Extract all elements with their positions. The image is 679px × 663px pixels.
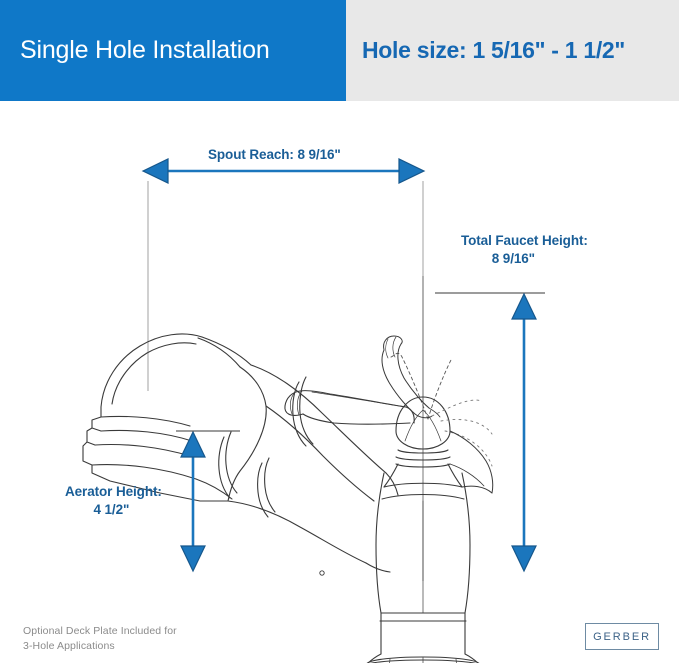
pull-out-hose-spout: [219, 365, 398, 575]
page-title: Single Hole Installation: [20, 37, 270, 65]
header-subtitle-panel: Hole size: 1 5/16" - 1 1/2": [346, 0, 679, 101]
label-total-faucet-height: Total Faucet Height: 8 9/16": [461, 232, 588, 268]
header-band: Single Hole Installation Hole size: 1 5/…: [0, 0, 679, 101]
aerator-spray-head: [83, 334, 266, 501]
faucet-diagram: [0, 101, 679, 663]
footer-note: Optional Deck Plate Included for 3-Hole …: [23, 624, 177, 654]
label-aerator-height-line2: 4 1/2": [65, 501, 162, 519]
body-ghost-right: [450, 431, 493, 493]
lever-handle: [285, 391, 414, 425]
brand-logo-text: GERBER: [593, 631, 651, 643]
deck-plate-base: [360, 654, 486, 663]
label-total-faucet-height-line1: Total Faucet Height:: [461, 233, 588, 248]
label-aerator-height-line1: Aerator Height:: [65, 484, 162, 499]
brand-logo: GERBER: [585, 623, 659, 650]
extension-lines: [148, 181, 423, 406]
dimension-arrow-total-height: [512, 294, 536, 571]
label-total-faucet-height-line2: 8 9/16": [461, 250, 588, 268]
footer-note-line2: 3-Hole Applications: [23, 639, 177, 654]
label-spout-reach: Spout Reach: 8 9/16": [208, 146, 341, 164]
footer-note-line1: Optional Deck Plate Included for: [23, 624, 177, 639]
label-aerator-height: Aerator Height: 4 1/2": [65, 483, 162, 519]
hole-size-spec: Hole size: 1 5/16" - 1 1/2": [362, 38, 625, 63]
product-spec-card: Single Hole Installation Hole size: 1 5/…: [0, 0, 679, 663]
header-title-panel: Single Hole Installation: [0, 0, 346, 101]
